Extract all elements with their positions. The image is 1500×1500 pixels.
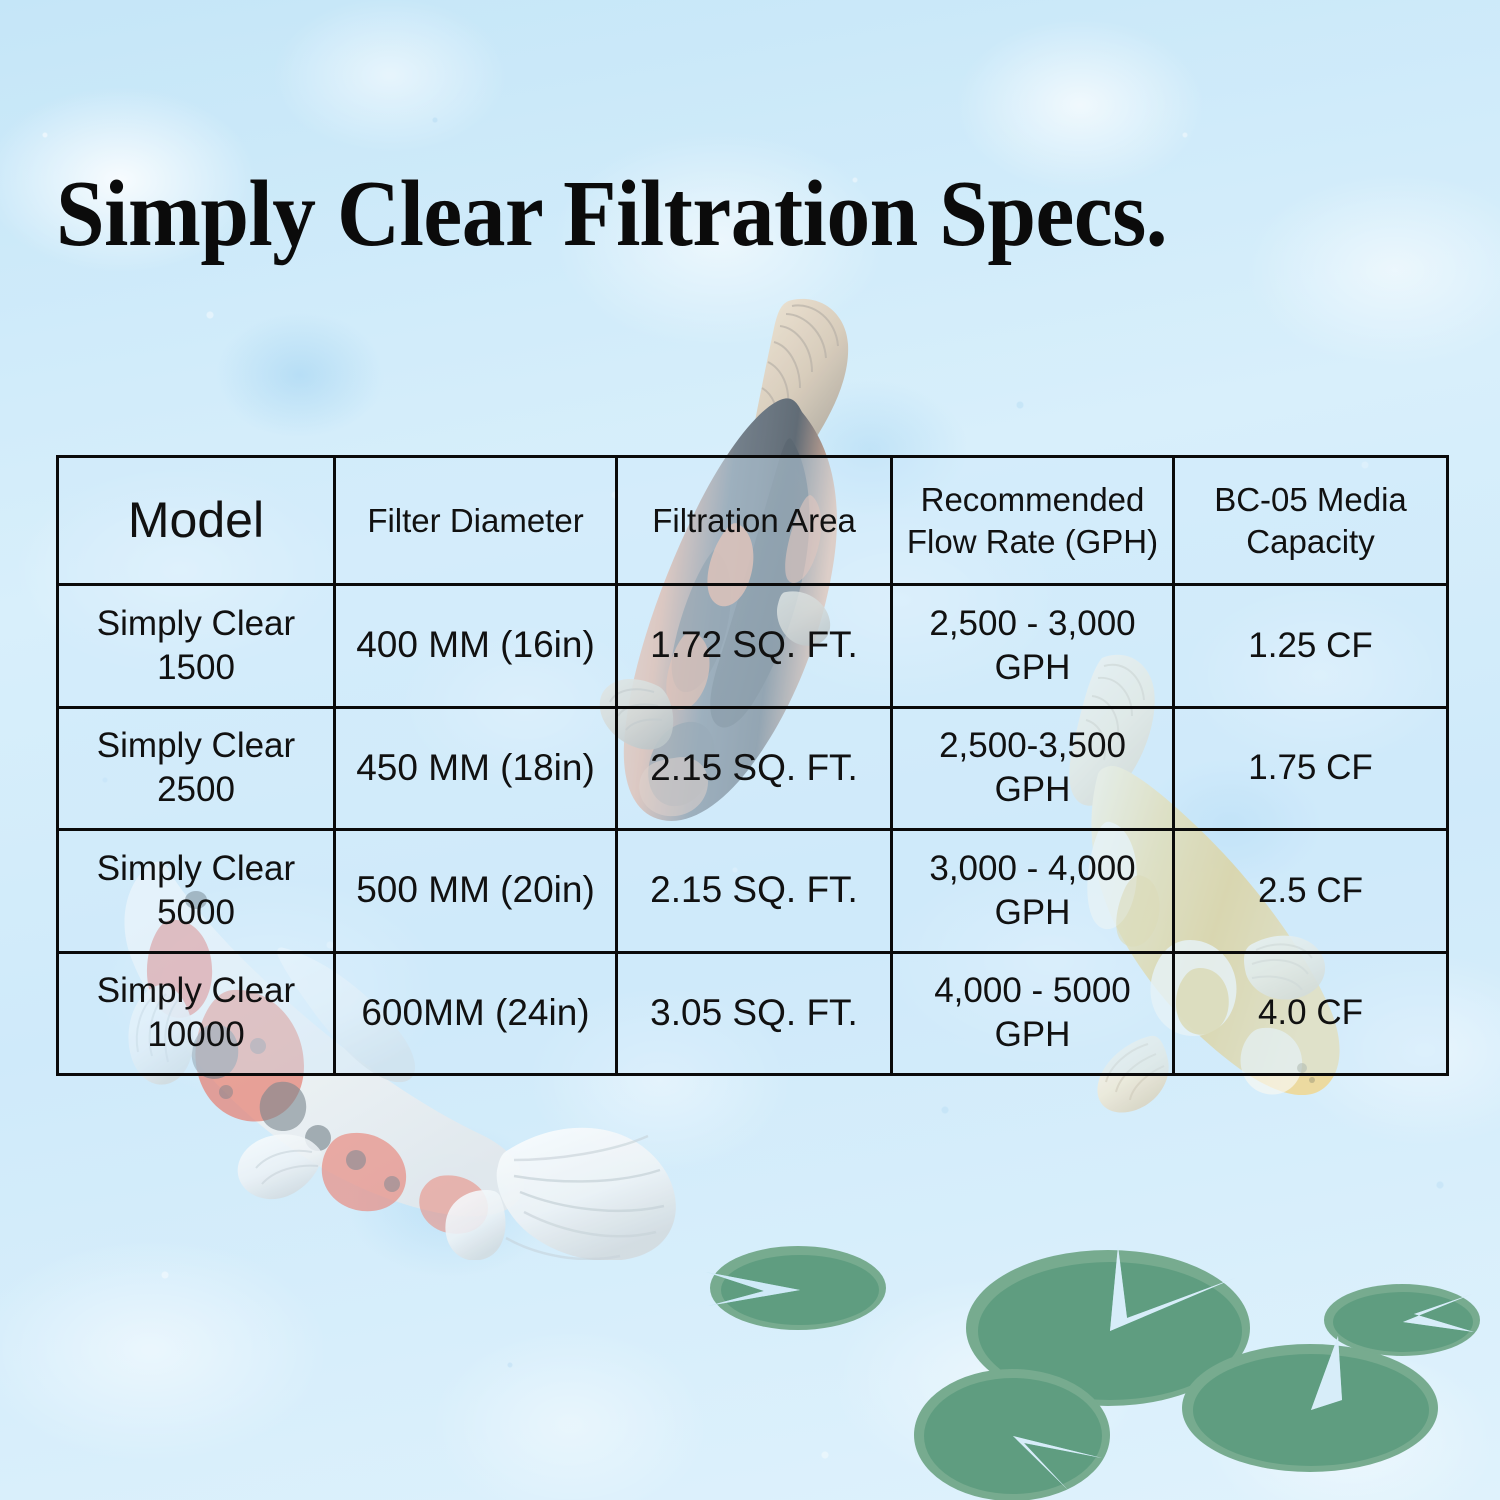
lily-pad-center-bottom xyxy=(914,1369,1110,1500)
lily-pad-left xyxy=(706,1246,886,1330)
page-title: Simply Clear Filtration Specs. xyxy=(56,166,1167,264)
column-header-model: Model xyxy=(58,457,335,585)
table-row: Simply Clear 10000 600MM (24in) 3.05 SQ.… xyxy=(58,952,1448,1075)
column-header-recommended-flow-rate: Recommended Flow Rate (GPH) xyxy=(892,457,1174,585)
cell-filtration-area: 3.05 SQ. FT. xyxy=(617,952,892,1075)
table-row: Simply Clear 1500 400 MM (16in) 1.72 SQ.… xyxy=(58,585,1448,708)
column-header-filter-diameter: Filter Diameter xyxy=(335,457,617,585)
table-header-row: Model Filter Diameter Filtration Area Re… xyxy=(58,457,1448,585)
cell-model: Simply Clear 10000 xyxy=(58,952,335,1075)
cell-filtration-area: 2.15 SQ. FT. xyxy=(617,707,892,830)
table-header: Model Filter Diameter Filtration Area Re… xyxy=(58,457,1448,585)
cell-model: Simply Clear 5000 xyxy=(58,830,335,953)
cell-media-capacity: 1.25 CF xyxy=(1174,585,1448,708)
cell-model: Simply Clear 2500 xyxy=(58,707,335,830)
cell-filter-diameter: 600MM (24in) xyxy=(335,952,617,1075)
table-row: Simply Clear 5000 500 MM (20in) 2.15 SQ.… xyxy=(58,830,1448,953)
cell-flow-rate: 2,500-3,500 GPH xyxy=(892,707,1174,830)
cell-filter-diameter: 500 MM (20in) xyxy=(335,830,617,953)
cell-filter-diameter: 400 MM (16in) xyxy=(335,585,617,708)
cell-filtration-area: 1.72 SQ. FT. xyxy=(617,585,892,708)
table-body: Simply Clear 1500 400 MM (16in) 1.72 SQ.… xyxy=(58,585,1448,1075)
cell-flow-rate: 4,000 - 5000 GPH xyxy=(892,952,1174,1075)
spec-table-container: Model Filter Diameter Filtration Area Re… xyxy=(56,455,1446,1076)
cell-filtration-area: 2.15 SQ. FT. xyxy=(617,830,892,953)
lily-pad-right-small xyxy=(1324,1284,1480,1356)
lily-pads-illustration xyxy=(690,1228,1480,1500)
table-row: Simply Clear 2500 450 MM (18in) 2.15 SQ.… xyxy=(58,707,1448,830)
cell-flow-rate: 2,500 - 3,000 GPH xyxy=(892,585,1174,708)
filtration-specs-table: Model Filter Diameter Filtration Area Re… xyxy=(56,455,1449,1076)
cell-flow-rate: 3,000 - 4,000 GPH xyxy=(892,830,1174,953)
cell-media-capacity: 4.0 CF xyxy=(1174,952,1448,1075)
cell-media-capacity: 1.75 CF xyxy=(1174,707,1448,830)
cell-model: Simply Clear 1500 xyxy=(58,585,335,708)
column-header-bc05-media-capacity: BC-05 Media Capacity xyxy=(1174,457,1448,585)
cell-filter-diameter: 450 MM (18in) xyxy=(335,707,617,830)
column-header-filtration-area: Filtration Area xyxy=(617,457,892,585)
cell-media-capacity: 2.5 CF xyxy=(1174,830,1448,953)
